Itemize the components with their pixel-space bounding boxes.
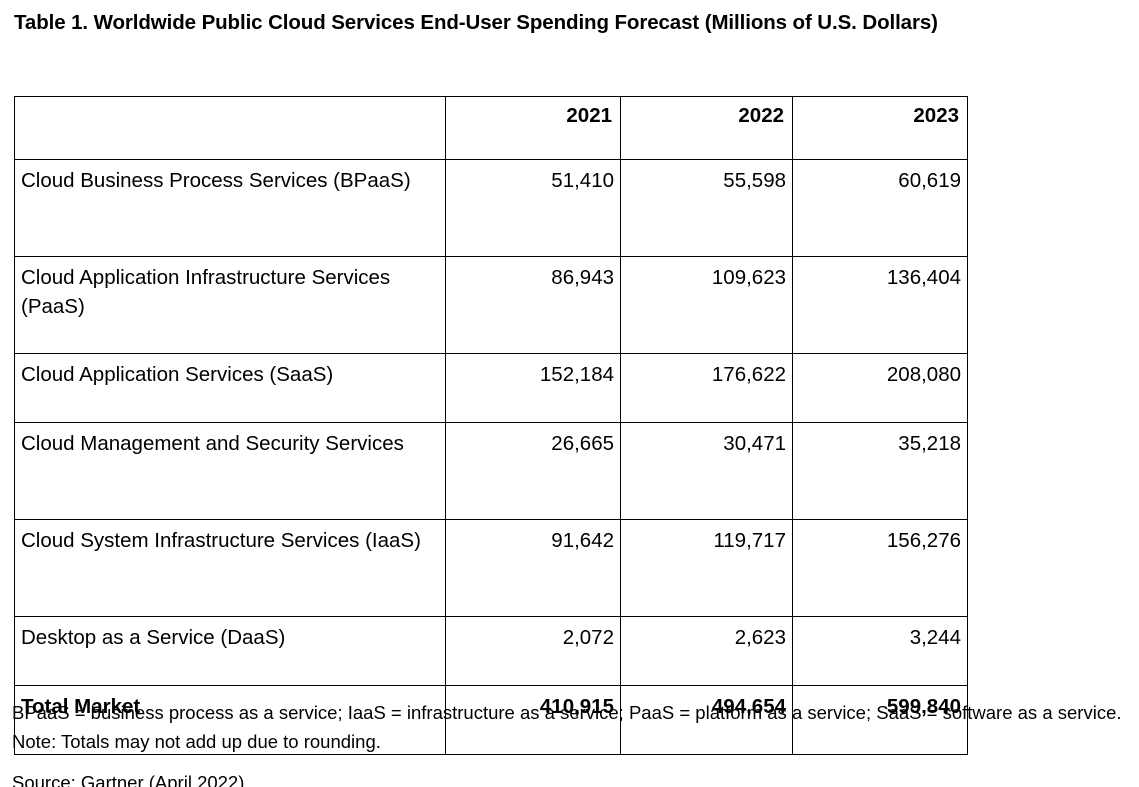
table-row: Cloud System Infrastructure Services (Ia… <box>15 520 968 617</box>
cell-2022: 176,622 <box>621 354 793 423</box>
table-header-row: 2021 2022 2023 <box>15 97 968 160</box>
cell-2021: 2,072 <box>446 617 621 686</box>
table-header: 2021 2022 2023 <box>15 97 968 160</box>
cell-2021: 86,943 <box>446 257 621 354</box>
document-page: Table 1. Worldwide Public Cloud Services… <box>0 0 1139 787</box>
table-row: Cloud Application Services (SaaS)152,184… <box>15 354 968 423</box>
row-label: Cloud Application Services (SaaS) <box>15 354 446 423</box>
footnote-source: Source: Gartner (April 2022) <box>12 768 1130 787</box>
cell-2023: 35,218 <box>793 423 968 520</box>
column-header-label <box>15 97 446 160</box>
table-row: Cloud Management and Security Services26… <box>15 423 968 520</box>
cell-2022: 30,471 <box>621 423 793 520</box>
page-title: Table 1. Worldwide Public Cloud Services… <box>14 8 1094 38</box>
forecast-table: 2021 2022 2023 Cloud Business Process Se… <box>14 96 968 755</box>
column-header-2021: 2021 <box>446 97 621 160</box>
cell-2022: 119,717 <box>621 520 793 617</box>
table-row: Desktop as a Service (DaaS)2,0722,6233,2… <box>15 617 968 686</box>
table-row: Cloud Business Process Services (BPaaS)5… <box>15 160 968 257</box>
cell-2022: 2,623 <box>621 617 793 686</box>
column-header-2022: 2022 <box>621 97 793 160</box>
cell-2022: 109,623 <box>621 257 793 354</box>
cell-2023: 208,080 <box>793 354 968 423</box>
row-label: Cloud Application Infrastructure Service… <box>15 257 446 354</box>
table-row: Cloud Application Infrastructure Service… <box>15 257 968 354</box>
cell-2021: 26,665 <box>446 423 621 520</box>
cell-2023: 136,404 <box>793 257 968 354</box>
cell-2021: 51,410 <box>446 160 621 257</box>
table-body: Cloud Business Process Services (BPaaS)5… <box>15 160 968 755</box>
footnote-definitions: BPaaS = business process as a service; I… <box>12 698 1130 756</box>
row-label: Cloud Management and Security Services <box>15 423 446 520</box>
cell-2023: 156,276 <box>793 520 968 617</box>
column-header-2023: 2023 <box>793 97 968 160</box>
row-label: Cloud Business Process Services (BPaaS) <box>15 160 446 257</box>
cell-2023: 3,244 <box>793 617 968 686</box>
cell-2021: 91,642 <box>446 520 621 617</box>
footnotes: BPaaS = business process as a service; I… <box>12 698 1130 787</box>
row-label: Desktop as a Service (DaaS) <box>15 617 446 686</box>
cell-2023: 60,619 <box>793 160 968 257</box>
forecast-table-container: 2021 2022 2023 Cloud Business Process Se… <box>14 96 967 755</box>
row-label: Cloud System Infrastructure Services (Ia… <box>15 520 446 617</box>
cell-2022: 55,598 <box>621 160 793 257</box>
cell-2021: 152,184 <box>446 354 621 423</box>
